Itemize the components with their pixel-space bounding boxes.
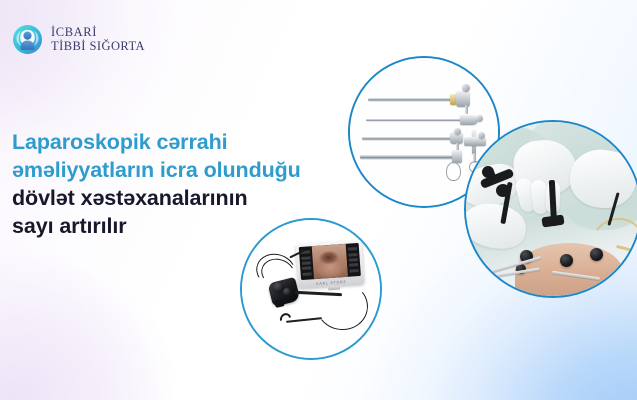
instrument-valve-2 (476, 115, 483, 122)
surgical-instrument-center-grip (541, 215, 564, 228)
brand-logo-line2: TİBBİ SIĞORTA (51, 40, 145, 53)
headline-line-3: dövlət xəstəxanalarının (12, 184, 342, 212)
brand-logo-line1: İCBARİ (51, 26, 145, 39)
scissors-ring-handle-2 (475, 279, 488, 290)
insertion-tube-tip (278, 311, 294, 327)
gloved-hand-left-lower (464, 201, 528, 251)
news-banner: İCBARİ TİBBİ SIĞORTA Laparoskopik cərrah… (0, 0, 637, 400)
brand-logo-text: İCBARİ TİBBİ SIĞORTA (51, 26, 145, 53)
monitor-screen (299, 243, 361, 280)
instrument-valve-3 (454, 128, 461, 135)
surgery-operation-photo (464, 120, 637, 298)
instrument-shaft-4 (360, 155, 454, 159)
monitor-right-controls (346, 245, 359, 275)
instrument-stem-1 (465, 105, 468, 114)
headline-line-1: Laparoskopik cərrahi (12, 128, 342, 156)
icbari-tibbi-sigorta-emblem-icon (12, 24, 43, 55)
insertion-tube-curve (313, 279, 371, 334)
instrument-shaft-1 (368, 98, 452, 101)
video-monitor: KARL STORZ (296, 240, 365, 288)
endoscope-monitor-photo: KARL STORZ (240, 218, 382, 360)
headline-line-2: əməliyyatların icra olunduğu (12, 156, 342, 184)
brand-logo[interactable]: İCBARİ TİBBİ SIĞORTA (12, 24, 145, 55)
trocar-port-2 (560, 254, 573, 267)
instrument-shaft-2 (366, 119, 462, 121)
endoscope-eyepiece (274, 299, 284, 308)
scissors-ring-handle-1 (476, 268, 489, 279)
instrument-shaft-3 (362, 137, 452, 140)
surgery-scene (466, 122, 637, 296)
endoscope-scene: KARL STORZ (242, 220, 380, 358)
endoscopic-view-image (312, 244, 348, 279)
laparoscope-joint (496, 184, 510, 197)
instrument-loop-4 (446, 162, 461, 181)
endoscope-control-knob-small (283, 288, 291, 296)
instrument-valve-1 (462, 84, 470, 92)
